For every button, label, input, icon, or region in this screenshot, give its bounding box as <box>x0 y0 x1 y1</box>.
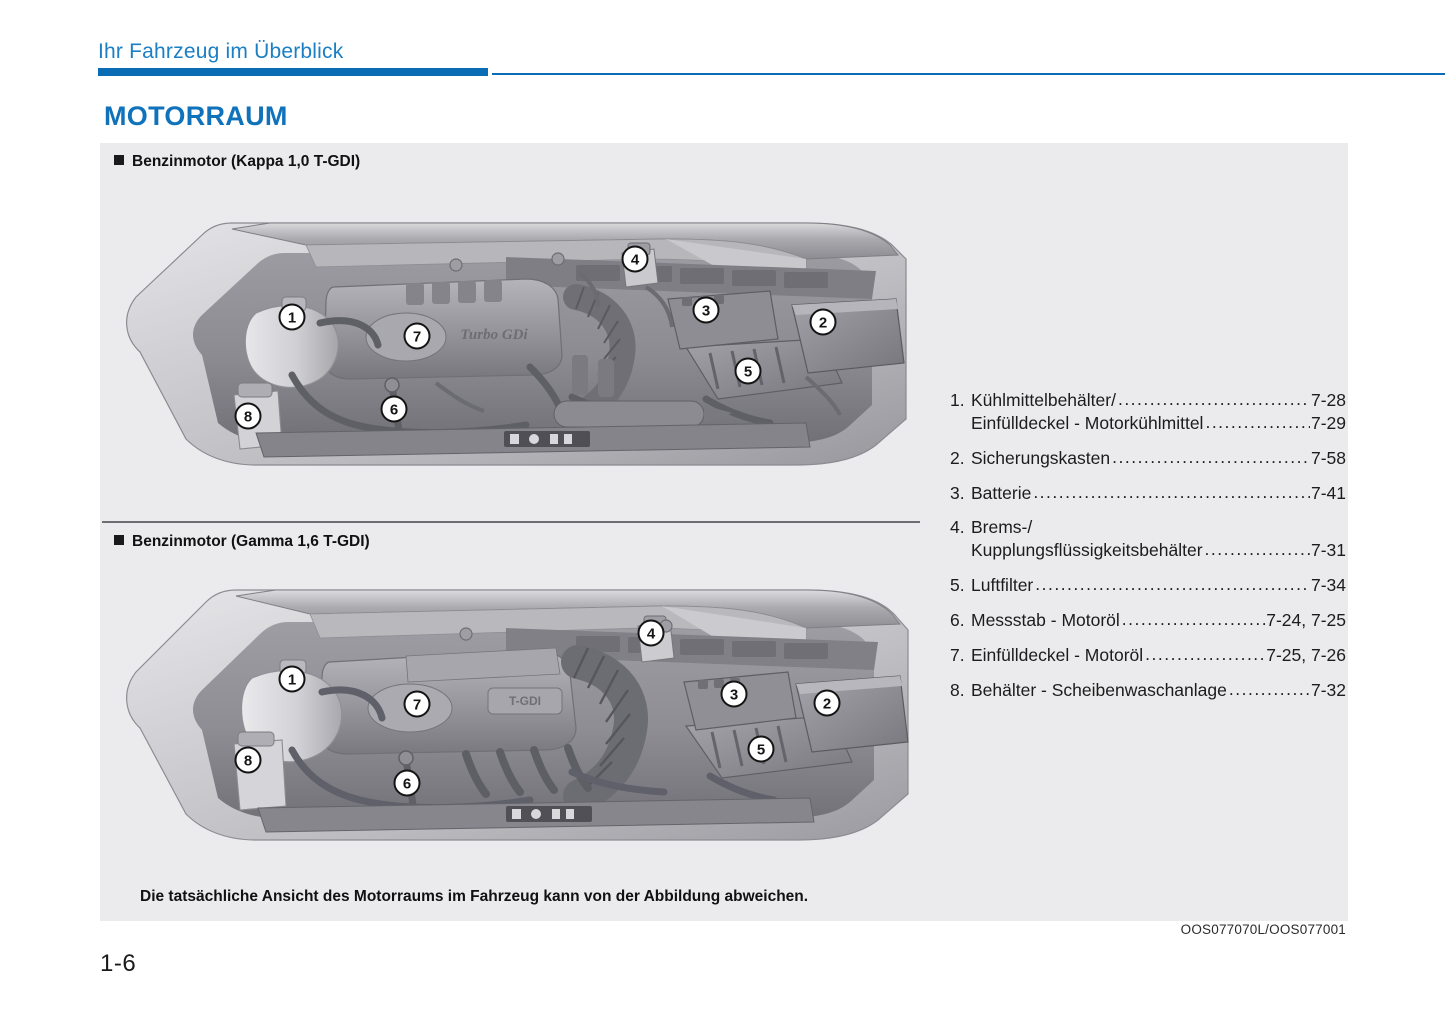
legend-item: 8. Behälter - Scheibenwaschanlage ......… <box>950 678 1350 703</box>
figure-code: OOS077070L/OOS077001 <box>1181 922 1346 937</box>
bullet-square-icon <box>114 155 124 165</box>
subsection-heading-gamma: Benzinmotor (Gamma 1,6 T-GDI) <box>114 533 370 551</box>
legend-label: Sicherungskasten <box>971 446 1112 471</box>
legend-dot-leader: ........................................… <box>1118 387 1310 412</box>
legend-number: 1. <box>950 388 971 413</box>
legend-dot-leader: ........................................… <box>1035 572 1310 597</box>
callout-2: 2 <box>815 691 840 716</box>
svg-text:5: 5 <box>757 742 765 759</box>
legend-page-ref[interactable]: 7-34 <box>1310 573 1346 598</box>
oil-dipstick-handle <box>399 751 413 765</box>
legend-label-continued: Einfülldeckel - Motorkühlmittel <box>971 411 1205 436</box>
legend-page-ref[interactable]: 7-24, 7-25 <box>1265 608 1346 633</box>
legend-dot-leader: ........................................… <box>1229 677 1310 702</box>
svg-text:2: 2 <box>823 696 831 713</box>
legend-label: Einfülldeckel - Motoröl <box>971 643 1145 668</box>
svg-text:1: 1 <box>288 310 296 327</box>
legend-page-ref[interactable]: 7-29 <box>1310 411 1346 436</box>
callout-4: 4 <box>639 621 664 646</box>
engine-cover-badge-text: T-GDI <box>509 694 541 708</box>
header-rule-thick <box>98 68 488 76</box>
legend-item: 4. Brems-/ Kupplungsflüssigkeitsbehälter… <box>950 515 1350 563</box>
svg-text:3: 3 <box>702 303 710 320</box>
subsection-heading-kappa: Benzinmotor (Kappa 1,0 T-GDI) <box>114 153 360 171</box>
svg-text:8: 8 <box>244 753 252 770</box>
svg-text:1: 1 <box>288 672 296 689</box>
legend-number: 3. <box>950 481 971 506</box>
header-rule-thin <box>492 73 1445 75</box>
callout-4: 4 <box>623 247 648 272</box>
callout-6: 6 <box>382 397 407 422</box>
svg-text:4: 4 <box>647 626 656 643</box>
legend-number: 4. <box>950 515 971 540</box>
svg-text:3: 3 <box>730 687 738 704</box>
legend-dot-leader: ........................................… <box>1205 410 1310 435</box>
legend-page-ref[interactable]: 7-31 <box>1310 538 1346 563</box>
svg-text:2: 2 <box>819 315 827 332</box>
legend-number: 6. <box>950 608 971 633</box>
callout-5: 5 <box>749 737 774 762</box>
legend-label: Batterie <box>971 481 1033 506</box>
washer-fluid-cap <box>238 732 274 746</box>
callout-1: 1 <box>280 305 305 330</box>
legend-item: 1. Kühlmittelbehälter/ .................… <box>950 388 1350 436</box>
callout-7: 7 <box>405 324 430 349</box>
legend-item: 5. Luftfilter ..........................… <box>950 573 1350 598</box>
svg-text:6: 6 <box>403 776 411 793</box>
page-number: 1-6 <box>100 950 136 978</box>
legend-dot-leader: ........................................… <box>1205 537 1310 562</box>
engine-bay-illustration-gamma: T-GDI <box>106 558 926 863</box>
legend-number: 8. <box>950 678 971 703</box>
callout-8: 8 <box>236 748 261 773</box>
legend-label: Behälter - Scheibenwaschanlage <box>971 678 1229 703</box>
subsection-heading-kappa-label: Benzinmotor (Kappa 1,0 T-GDI) <box>132 153 360 170</box>
legend-dot-leader: ........................................… <box>1033 480 1310 505</box>
legend-label: Kühlmittelbehälter/ <box>971 388 1118 413</box>
washer-fluid-cap <box>238 383 272 397</box>
legend-dot-leader: ........................................… <box>1122 607 1265 632</box>
legend-label: Luftfilter <box>971 573 1035 598</box>
legend-number: 2. <box>950 446 971 471</box>
running-header-title: Ihr Fahrzeug im Überblick <box>98 40 343 64</box>
callout-6: 6 <box>395 771 420 796</box>
running-header: Ihr Fahrzeug im Überblick <box>0 0 1445 80</box>
legend-page-ref[interactable]: 7-58 <box>1310 446 1346 471</box>
oil-dipstick-handle <box>385 378 399 392</box>
legend-page-ref[interactable]: 7-41 <box>1310 481 1346 506</box>
legend-label: Brems-/ <box>971 515 1034 540</box>
callout-3: 3 <box>722 682 747 707</box>
figure-note: Die tatsächliche Ansicht des Motorraums … <box>140 888 808 906</box>
page-title: MOTORRAUM <box>104 101 288 132</box>
svg-text:7: 7 <box>413 697 421 714</box>
svg-text:4: 4 <box>631 252 640 269</box>
legend-label: Messstab - Motoröl <box>971 608 1122 633</box>
legend-page-ref[interactable]: 7-28 <box>1310 388 1346 413</box>
legend-item: 6. Messstab - Motoröl ..................… <box>950 608 1350 633</box>
engine-cover-badge-text: Turbo GDi <box>460 327 528 343</box>
legend-number: 7. <box>950 643 971 668</box>
callout-5: 5 <box>736 359 761 384</box>
content-panel: Benzinmotor (Kappa 1,0 T-GDI) <box>100 143 1348 921</box>
legend-page-ref[interactable]: 7-25, 7-26 <box>1265 643 1346 668</box>
svg-text:6: 6 <box>390 402 398 419</box>
legend-label-continued: Kupplungsflüssigkeitsbehälter <box>971 538 1205 563</box>
svg-text:7: 7 <box>413 329 421 346</box>
callout-3: 3 <box>694 298 719 323</box>
legend-dot-leader: ........................................… <box>1145 642 1265 667</box>
bullet-square-icon <box>114 535 124 545</box>
callout-2: 2 <box>811 310 836 335</box>
legend-item: 2. Sicherungskasten ....................… <box>950 446 1350 471</box>
component-legend-list: 1. Kühlmittelbehälter/ .................… <box>950 388 1350 712</box>
legend-item: 3. Batterie ............................… <box>950 481 1350 506</box>
legend-item: 7. Einfülldeckel - Motoröl .............… <box>950 643 1350 668</box>
legend-number: 5. <box>950 573 971 598</box>
subsection-heading-gamma-label: Benzinmotor (Gamma 1,6 T-GDI) <box>132 533 370 550</box>
svg-text:5: 5 <box>744 364 752 381</box>
legend-dot-leader: ........................................… <box>1112 445 1310 470</box>
subsection-divider <box>102 521 920 523</box>
engine-bay-illustration-kappa: Turbo GDi <box>106 187 926 492</box>
callout-1: 1 <box>280 667 305 692</box>
svg-text:8: 8 <box>244 409 252 426</box>
callout-8: 8 <box>236 404 261 429</box>
callout-7: 7 <box>405 692 430 717</box>
legend-page-ref[interactable]: 7-32 <box>1310 678 1346 703</box>
